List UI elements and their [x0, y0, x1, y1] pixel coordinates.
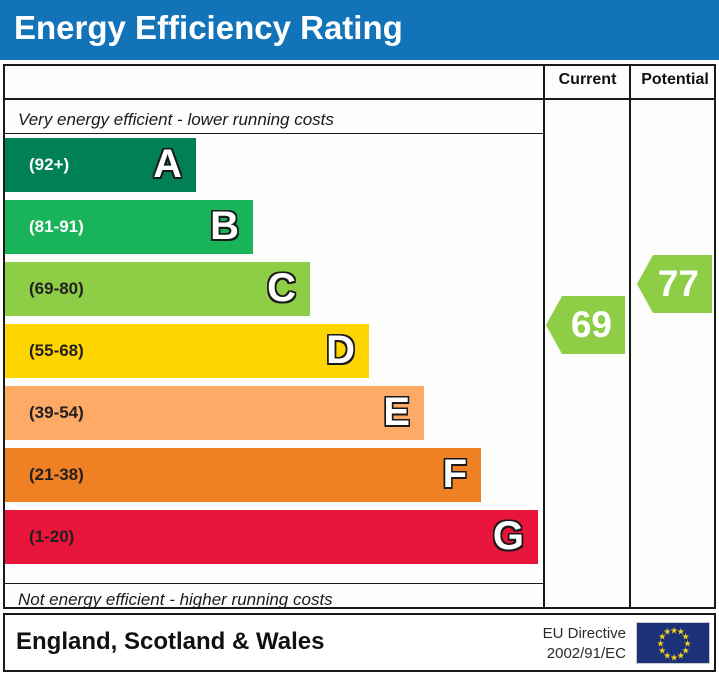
band-range-label: (55-68)	[29, 341, 84, 361]
rating-band-f: (21-38)F	[5, 448, 481, 502]
eu-flag-star: ★	[663, 628, 671, 637]
caption-efficient: Very energy efficient - lower running co…	[18, 110, 334, 130]
rating-band-e: (39-54)E	[5, 386, 424, 440]
caption-inefficient: Not energy efficient - higher running co…	[18, 590, 333, 610]
band-range-label: (1-20)	[29, 527, 74, 547]
eu-flag-icon: ★★★★★★★★★★★★	[636, 622, 710, 664]
rating-band-b: (81-91)B	[5, 200, 253, 254]
energy-efficiency-rating-certificate: Energy Efficiency Rating Current Potenti…	[0, 0, 719, 675]
eu-directive-line1: EU Directive	[520, 624, 626, 644]
rating-band-c: (69-80)C	[5, 262, 310, 316]
eu-directive-line2: 2002/91/EC	[520, 644, 626, 664]
band-range-label: (69-80)	[29, 279, 84, 299]
band-range-label: (81-91)	[29, 217, 84, 237]
footer-region-label: England, Scotland & Wales	[16, 628, 324, 656]
band-letter-b: B	[210, 206, 239, 246]
band-letter-d: D	[326, 330, 355, 370]
band-range-label: (92+)	[29, 155, 69, 175]
title-bar: Energy Efficiency Rating	[0, 0, 719, 60]
band-letter-c: C	[267, 268, 296, 308]
rating-band-a: (92+)A	[5, 138, 196, 192]
column-divider-potential	[629, 64, 631, 609]
column-divider-current	[543, 64, 545, 609]
rating-band-g: (1-20)G	[5, 510, 538, 564]
potential-rating-value: 77	[658, 263, 699, 305]
band-range-label: (39-54)	[29, 403, 84, 423]
column-header-current: Current	[546, 71, 629, 89]
rating-band-d: (55-68)D	[5, 324, 369, 378]
caption-bottom-rule	[3, 583, 543, 584]
current-rating-arrow: 69	[546, 296, 625, 354]
band-range-label: (21-38)	[29, 465, 84, 485]
potential-rating-arrow: 77	[637, 255, 712, 313]
band-letter-f: F	[443, 454, 467, 494]
page-title: Energy Efficiency Rating	[14, 9, 403, 47]
band-letter-a: A	[153, 144, 182, 184]
caption-top-rule	[3, 133, 543, 134]
eu-directive-label: EU Directive 2002/91/EC	[520, 624, 626, 665]
column-header-potential: Potential	[632, 71, 718, 89]
current-rating-value: 69	[571, 304, 612, 346]
band-letter-g: G	[493, 516, 524, 556]
band-letter-e: E	[383, 392, 410, 432]
